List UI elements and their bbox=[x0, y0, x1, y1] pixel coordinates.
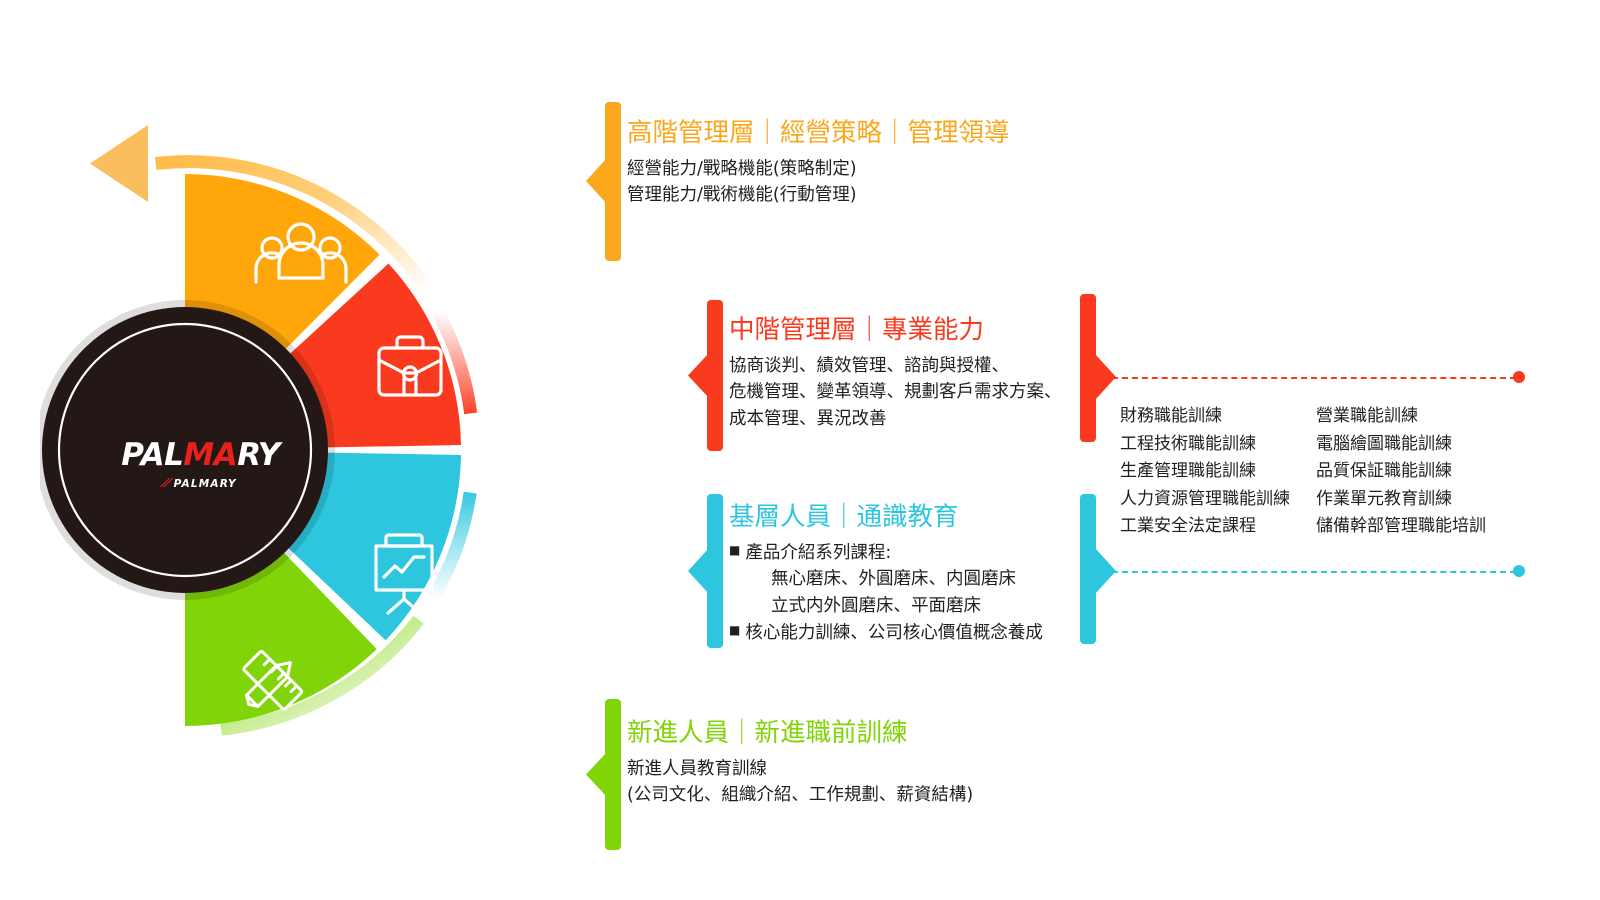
section-line: 產品介紹系列課程: bbox=[745, 540, 891, 567]
bracket-new-employee bbox=[585, 697, 625, 852]
course-item: 工業安全法定課程 bbox=[1120, 513, 1316, 541]
block-new-employee: 新進人員｜新進職前訓練 新進人員教育訓線 (公司文化、組織介紹、工作規劃、薪資結… bbox=[627, 718, 1097, 809]
square-bullet-icon: ■ bbox=[729, 541, 740, 559]
section-bullet-item: ■ 產品介紹系列課程: bbox=[729, 540, 1189, 567]
flow-arrow-icon bbox=[90, 125, 148, 202]
connector-endpoint-middle-management bbox=[1513, 371, 1525, 383]
training-wheel-diagram bbox=[40, 45, 640, 855]
course-column-right: 營業職能訓練 電腦繪圖職能訓練 品質保証職能訓練 作業單元教育訓練 儲備幹部管理… bbox=[1316, 403, 1486, 541]
section-title-middle-management: 中階管理層｜專業能力 bbox=[729, 315, 1199, 347]
connector-line-frontline-staff bbox=[1112, 571, 1516, 573]
square-bullet-icon: ■ bbox=[729, 621, 740, 639]
section-title-top-management: 高階管理層｜經營策略｜管理領導 bbox=[627, 118, 1087, 150]
course-item: 電腦繪圖職能訓練 bbox=[1316, 431, 1486, 459]
block-top-management: 高階管理層｜經營策略｜管理領導 經營能力/戰略機能(策略制定) 管理能力/戰術機… bbox=[627, 118, 1087, 209]
course-item: 生產管理職能訓練 bbox=[1120, 458, 1316, 486]
bracket-frontline-staff-right bbox=[1080, 492, 1120, 644]
course-item: 營業職能訓練 bbox=[1316, 403, 1486, 431]
section-line: 管理能力/戰術機能(行動管理) bbox=[627, 182, 1087, 209]
bracket-middle-management-left bbox=[687, 298, 727, 453]
course-item: 品質保証職能訓練 bbox=[1316, 458, 1486, 486]
section-bullet-item: ■ 核心能力訓練、公司核心價值概念養成 bbox=[729, 620, 1189, 647]
section-line: 核心能力訓練、公司核心價值概念養成 bbox=[745, 620, 1043, 647]
course-item: 工程技術職能訓練 bbox=[1120, 431, 1316, 459]
course-item: 儲備幹部管理職能培訓 bbox=[1316, 513, 1486, 541]
bracket-top-management bbox=[585, 100, 625, 263]
section-line: 立式内外圓磨床、平面磨床 bbox=[729, 593, 1189, 620]
section-line: (公司文化、組織介紹、工作規劃、薪資結構) bbox=[627, 782, 1097, 809]
section-line: 新進人員教育訓線 bbox=[627, 756, 1097, 783]
course-list: 財務職能訓練 工程技術職能訓練 生產管理職能訓練 人力資源管理職能訓練 工業安全… bbox=[1120, 403, 1486, 541]
section-title-new-employee: 新進人員｜新進職前訓練 bbox=[627, 718, 1097, 750]
course-item: 財務職能訓練 bbox=[1120, 403, 1316, 431]
infographic-canvas: PALMARY ⁄⁄PALMARY 高階管理層｜經營策略｜管理領導 經營能力/戰… bbox=[0, 0, 1600, 900]
course-item: 作業單元教育訓練 bbox=[1316, 486, 1486, 514]
connector-line-middle-management bbox=[1112, 377, 1516, 379]
course-column-left: 財務職能訓練 工程技術職能訓練 生產管理職能訓練 人力資源管理職能訓練 工業安全… bbox=[1120, 403, 1316, 541]
center-circle bbox=[42, 307, 328, 593]
course-item: 人力資源管理職能訓練 bbox=[1120, 486, 1316, 514]
connector-endpoint-frontline-staff bbox=[1513, 565, 1525, 577]
bracket-middle-management-right bbox=[1080, 292, 1120, 442]
section-line: 協商谈判、績效管理、諮詢與授權、 bbox=[729, 353, 1199, 380]
bracket-frontline-staff-left bbox=[687, 492, 727, 650]
section-line: 經營能力/戰略機能(策略制定) bbox=[627, 156, 1087, 183]
